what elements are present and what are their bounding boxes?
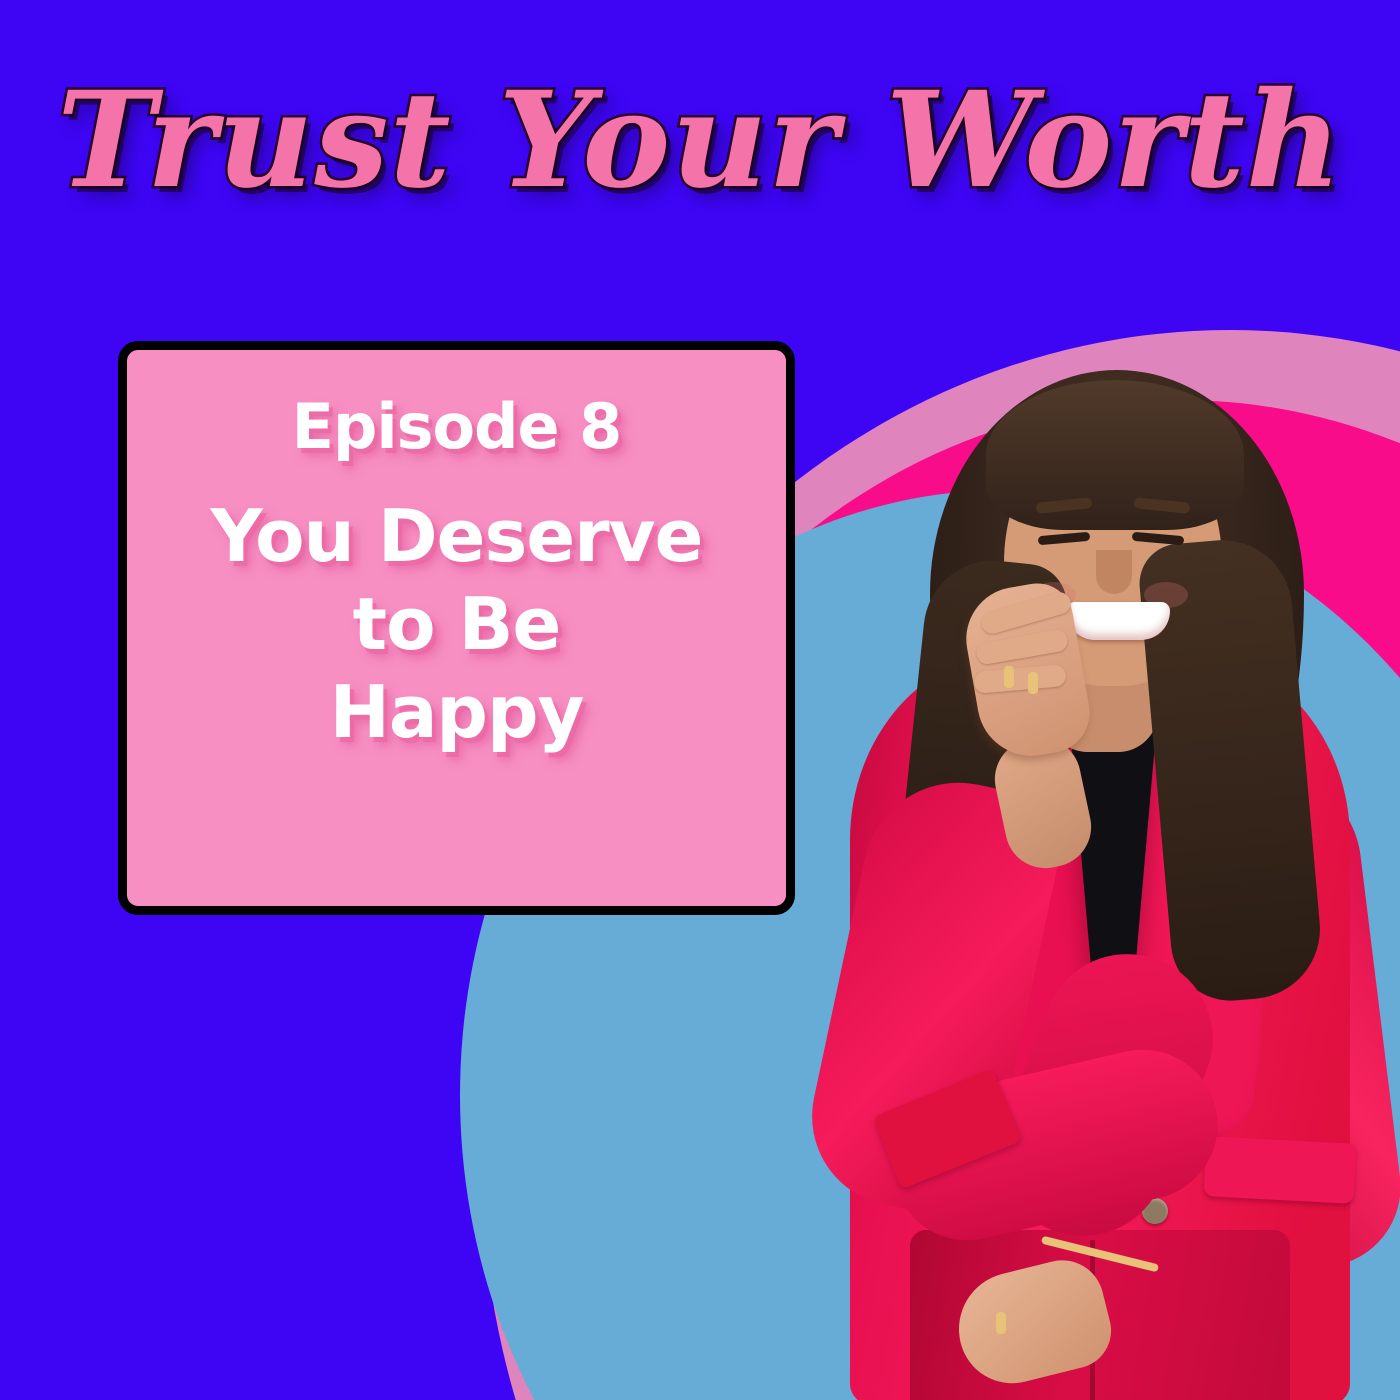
eye-left bbox=[1038, 532, 1091, 545]
episode-title-line-2: to Be bbox=[153, 586, 759, 662]
lower-hand bbox=[947, 1251, 1119, 1394]
wrist bbox=[987, 730, 1098, 875]
hair-top bbox=[986, 380, 1244, 530]
right-arm bbox=[1160, 760, 1400, 1279]
left-forearm bbox=[877, 1035, 1232, 1255]
hair bbox=[930, 370, 1304, 930]
left-arm-bent bbox=[972, 929, 1238, 1262]
eyebrow-right bbox=[1134, 497, 1191, 514]
cheek-right bbox=[1144, 582, 1188, 608]
hand-on-cheek bbox=[958, 578, 1096, 765]
smile bbox=[1066, 602, 1170, 640]
episode-title-line-1: You Deserve bbox=[153, 498, 759, 574]
face bbox=[1004, 418, 1222, 686]
blazer-pocket-right bbox=[1204, 1136, 1357, 1204]
episode-title-line-3: Happy bbox=[153, 674, 759, 750]
episode-number-label: Episode 8 bbox=[153, 394, 759, 460]
blazer bbox=[850, 650, 1350, 1400]
hair-lock-left bbox=[889, 554, 1070, 966]
blazer-button-2 bbox=[1142, 1198, 1168, 1224]
finger-3 bbox=[973, 664, 1067, 694]
finger-1 bbox=[979, 590, 1074, 637]
podcast-cover-art: Trust Your Worth Episode 8 You Deserve t… bbox=[0, 0, 1400, 1400]
inner-top bbox=[1020, 720, 1195, 1170]
cheek-left bbox=[1032, 582, 1076, 608]
host-photo bbox=[790, 350, 1400, 1400]
ring-1 bbox=[1004, 666, 1014, 688]
eye-right bbox=[1132, 532, 1185, 545]
finger-2 bbox=[975, 628, 1069, 666]
nose bbox=[1096, 550, 1132, 594]
neck bbox=[1048, 632, 1158, 752]
trouser-seam bbox=[1090, 1240, 1095, 1400]
ring-2 bbox=[1028, 672, 1038, 694]
trousers bbox=[910, 1230, 1290, 1400]
eyebrow-left bbox=[1036, 497, 1093, 514]
episode-card: Episode 8 You Deserve to Be Happy bbox=[118, 341, 795, 915]
blazer-lapel-right bbox=[1121, 693, 1289, 1143]
blazer-lapel-left bbox=[947, 694, 1104, 1133]
hair-lock-right bbox=[1136, 534, 1326, 1005]
blazer-button-1 bbox=[1142, 1110, 1168, 1136]
podcast-title: Trust Your Worth bbox=[0, 72, 1400, 211]
ring-3 bbox=[996, 1312, 1006, 1334]
episode-title: You Deserve to Be Happy bbox=[153, 498, 759, 763]
bracelet bbox=[1041, 1236, 1159, 1273]
left-upper-arm bbox=[795, 765, 1070, 1225]
blazer-pocket-left bbox=[872, 1068, 1022, 1189]
